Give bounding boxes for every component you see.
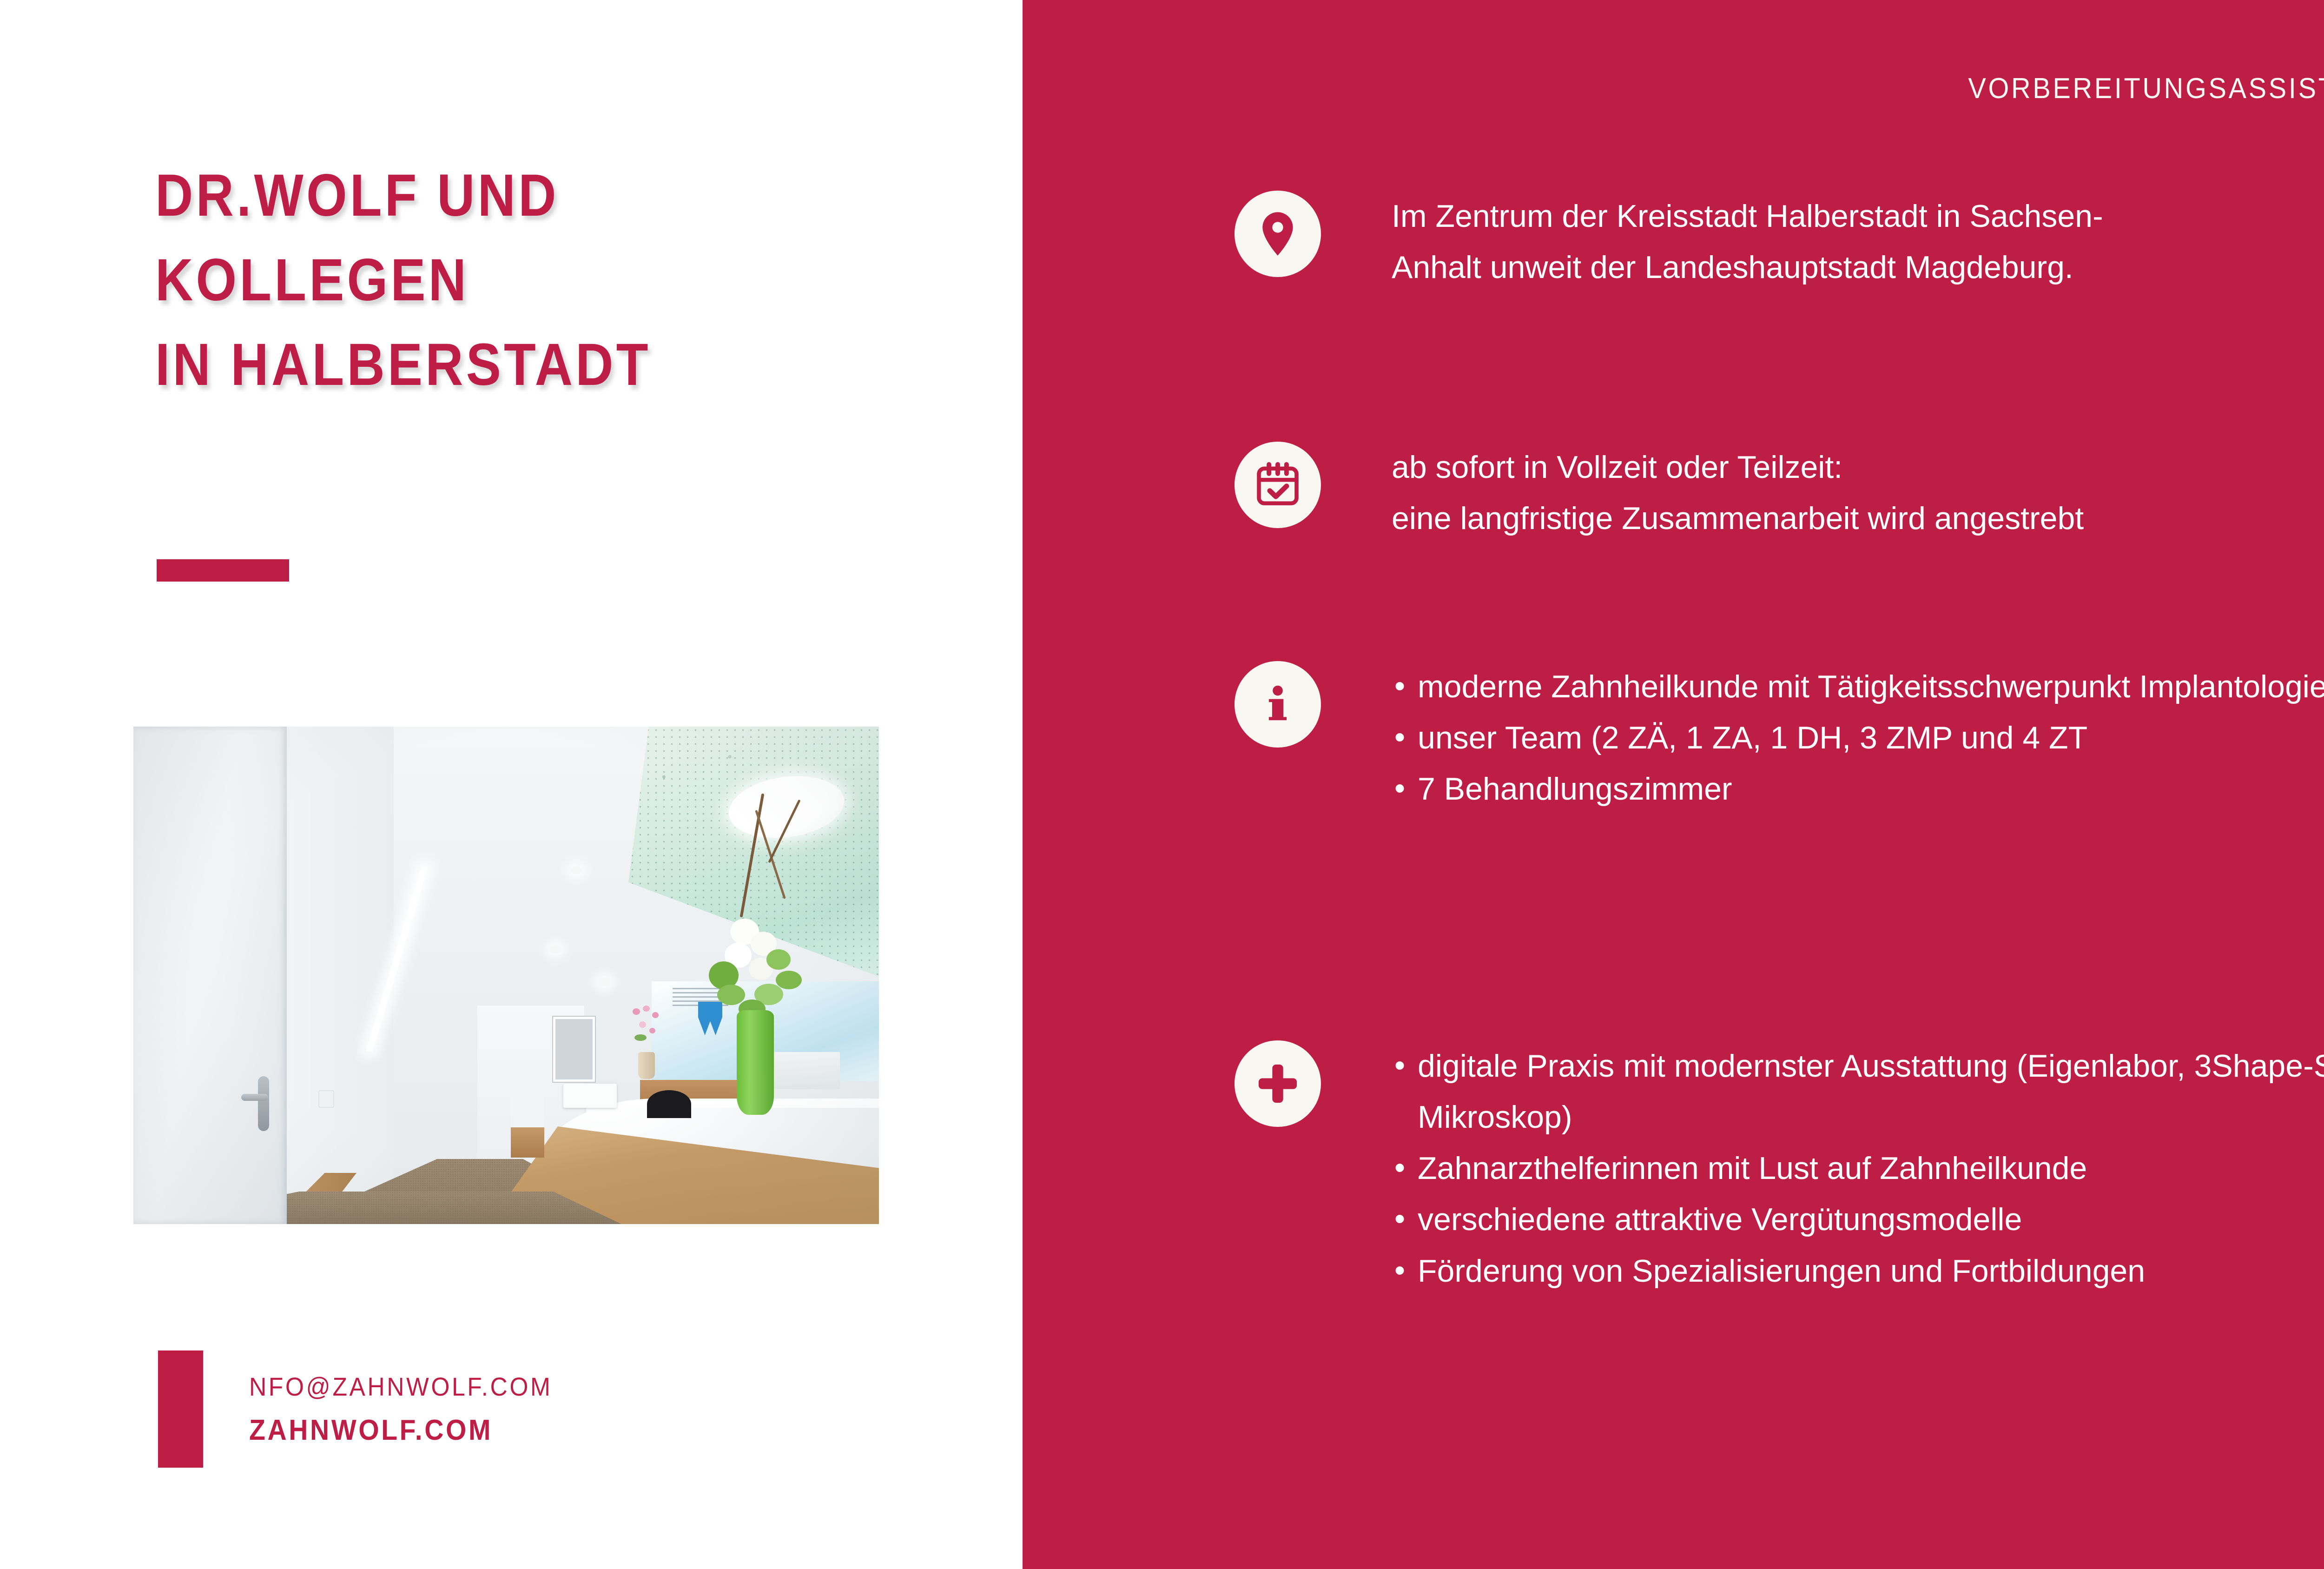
list-item: verschiedene attraktive Vergütungsmodell…: [1418, 1194, 2324, 1245]
calendar-check-icon: [1235, 442, 1321, 528]
list-item: moderne Zahnheilkunde mit Tätigkeitsschw…: [1418, 661, 2324, 712]
reception-photo: [133, 727, 879, 1224]
contact-email[interactable]: NFO@ZAHNWOLF.COM: [249, 1371, 553, 1402]
job-headline: VORBEREITUNGSASSISTENT:IN GESUCHT!: [1968, 72, 2324, 105]
left-panel: DR.WOLF UND KOLLEGEN IN HALBERSTADT: [0, 0, 1023, 1569]
info-row-benefits: digitale Praxis mit modernster Ausstattu…: [1235, 1040, 2324, 1297]
list-item: Zahnarzthelferinnen mit Lust auf Zahnhei…: [1418, 1143, 2324, 1194]
details-text: moderne Zahnheilkunde mit Tätigkeitsschw…: [1392, 661, 2324, 814]
job-headline-row: VORBEREITUNGSASSISTENT:IN GESUCHT!: [1921, 69, 2324, 108]
title-underline-rule: [157, 559, 289, 582]
benefits-text: digitale Praxis mit modernster Ausstattu…: [1392, 1040, 2324, 1297]
location-text: Im Zentrum der Kreisstadt Halberstadt in…: [1392, 191, 2103, 293]
list-item: Förderung von Spezialisierungen und Fort…: [1418, 1245, 2324, 1297]
location-pin-icon: [1235, 191, 1321, 277]
details-list: moderne Zahnheilkunde mit Tätigkeitsschw…: [1392, 661, 2324, 814]
right-panel: VORBEREITUNGSASSISTENT:IN GESUCHT! Im Ze…: [1023, 0, 2324, 1569]
list-item: unser Team (2 ZÄ, 1 ZA, 1 DH, 3 ZMP und …: [1418, 712, 2324, 763]
schedule-text: ab sofort in Vollzeit oder Teilzeit: ein…: [1392, 442, 2084, 544]
contact-lines: NFO@ZAHNWOLF.COM ZAHNWOLF.COM: [249, 1351, 579, 1468]
schedule-line-2: eine langfristige Zusammenarbeit wird an…: [1392, 493, 2084, 544]
location-line-1: Im Zentrum der Kreisstadt Halberstadt in…: [1392, 191, 2103, 242]
list-item: digitale Praxis mit modernster Ausstattu…: [1418, 1040, 2324, 1143]
info-row-location: Im Zentrum der Kreisstadt Halberstadt in…: [1235, 191, 2103, 293]
benefits-list: digitale Praxis mit modernster Ausstattu…: [1392, 1040, 2324, 1297]
contact-red-mark: [158, 1351, 203, 1468]
page-title: DR.WOLF UND KOLLEGEN IN HALBERSTADT: [155, 153, 891, 407]
info-row-details: moderne Zahnheilkunde mit Tätigkeitsschw…: [1235, 661, 2324, 814]
list-item: 7 Behandlungszimmer: [1418, 763, 2324, 814]
contact-block: NFO@ZAHNWOLF.COM ZAHNWOLF.COM: [158, 1351, 579, 1468]
schedule-line-1: ab sofort in Vollzeit oder Teilzeit:: [1392, 442, 2084, 493]
contact-website[interactable]: ZAHNWOLF.COM: [249, 1414, 553, 1447]
location-line-2: Anhalt unweit der Landeshauptstadt Magde…: [1392, 242, 2103, 293]
info-row-schedule: ab sofort in Vollzeit oder Teilzeit: ein…: [1235, 442, 2084, 544]
photo-vignette: [133, 727, 879, 1224]
plus-icon: [1235, 1040, 1321, 1127]
info-icon: [1235, 661, 1321, 748]
